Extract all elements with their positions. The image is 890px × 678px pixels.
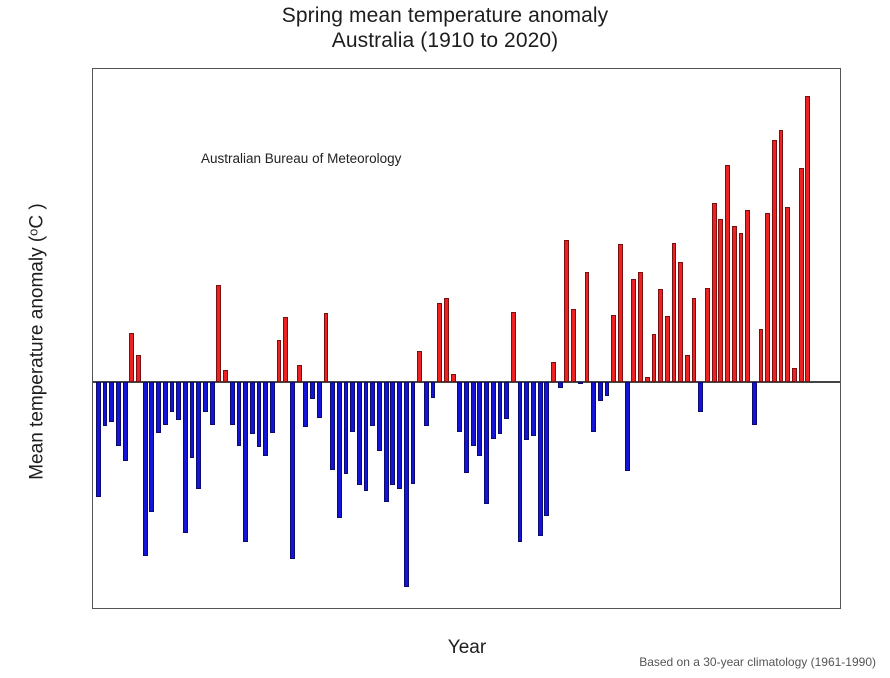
bar-1925 [196, 382, 201, 489]
bar-1976 [538, 382, 543, 536]
bar-1916 [136, 355, 141, 382]
bar-1989 [625, 382, 630, 471]
bar-1982 [578, 382, 583, 384]
chart-title-block: Spring mean temperature anomaly Australi… [0, 4, 890, 54]
bar-1944 [324, 313, 329, 382]
bar-1927 [210, 382, 215, 424]
bar-1915 [129, 333, 134, 382]
bar-1990 [631, 279, 636, 382]
bar-1912 [109, 382, 114, 422]
bar-2013 [785, 207, 790, 382]
bar-1971 [504, 382, 509, 419]
bar-1949 [357, 382, 362, 485]
bar-1957 [411, 382, 416, 484]
bar-1958 [417, 351, 422, 382]
bar-1935 [263, 382, 268, 455]
plot-area: Australian Bureau of Meteorology [92, 68, 841, 609]
bar-1964 [457, 382, 462, 431]
bar-1956 [404, 382, 409, 587]
bar-1991 [638, 272, 643, 382]
chart-title: Spring mean temperature anomaly [0, 4, 890, 29]
bar-1932 [243, 382, 248, 541]
chart-subtitle: Australia (1910 to 2020) [0, 29, 890, 54]
bar-2016 [805, 96, 810, 382]
bar-1947 [344, 382, 349, 474]
y-axis-label: Mean temperature anomaly (oC ) [26, 107, 49, 577]
bar-1965 [464, 382, 469, 472]
bar-1981 [571, 309, 576, 382]
bar-1950 [364, 382, 369, 491]
bar-1937 [277, 340, 282, 382]
bar-2009 [759, 329, 764, 383]
bar-1918 [149, 382, 154, 512]
y-axis-label-tail: C ) [27, 203, 48, 228]
bar-2006 [739, 233, 744, 383]
bar-1979 [558, 382, 563, 388]
bar-1963 [451, 374, 456, 382]
bar-2012 [779, 130, 784, 383]
bar-1945 [330, 382, 335, 469]
bar-1919 [156, 382, 161, 433]
bar-1974 [524, 382, 529, 440]
bar-1994 [658, 289, 663, 382]
bar-1977 [544, 382, 549, 516]
bar-1975 [531, 382, 536, 436]
bar-1959 [424, 382, 429, 426]
bar-2015 [799, 168, 804, 382]
bar-1931 [237, 382, 242, 445]
bar-2014 [792, 368, 797, 382]
bar-1923 [183, 382, 188, 533]
climatology-footnote: Based on a 30-year climatology (1961-199… [639, 655, 876, 669]
bar-1993 [652, 334, 657, 382]
bar-1930 [230, 382, 235, 424]
bar-1948 [350, 382, 355, 431]
chart-figure: Spring mean temperature anomaly Australi… [0, 0, 890, 678]
bar-2007 [745, 210, 750, 382]
bar-1998 [685, 355, 690, 382]
bar-1969 [491, 382, 496, 438]
bar-1978 [551, 362, 556, 382]
bar-1987 [611, 315, 616, 383]
bar-1917 [143, 382, 148, 556]
bar-1920 [163, 382, 168, 424]
bar-2000 [698, 382, 703, 412]
bar-1933 [250, 382, 255, 434]
bar-1984 [591, 382, 596, 431]
bar-1926 [203, 382, 208, 412]
bar-2001 [705, 288, 710, 383]
bar-1921 [170, 382, 175, 412]
bar-1939 [290, 382, 295, 558]
bar-1914 [123, 382, 128, 461]
bar-1997 [678, 262, 683, 382]
bar-1954 [390, 382, 395, 485]
bar-1953 [384, 382, 389, 502]
bar-1967 [477, 382, 482, 455]
bar-1941 [303, 382, 308, 427]
bar-2002 [712, 203, 717, 382]
bar-2005 [732, 226, 737, 383]
degree-symbol: o [26, 229, 41, 236]
bar-1929 [223, 370, 228, 383]
bar-1940 [297, 365, 302, 382]
bar-1972 [511, 312, 516, 383]
y-axis-label-text: Mean temperature anomaly ( [27, 236, 48, 480]
bar-1936 [270, 382, 275, 433]
bar-1938 [283, 317, 288, 382]
bar-1910 [96, 382, 101, 496]
bar-1999 [692, 298, 697, 383]
bar-1992 [645, 377, 650, 383]
bar-series [93, 69, 840, 608]
bar-1973 [518, 382, 523, 541]
bar-2010 [765, 213, 770, 382]
bar-2008 [752, 382, 757, 424]
bar-1946 [337, 382, 342, 517]
bar-1996 [672, 243, 677, 383]
bar-1966 [471, 382, 476, 445]
bar-1924 [190, 382, 195, 458]
bar-2003 [718, 219, 723, 383]
bar-1995 [665, 316, 670, 382]
bar-1943 [317, 382, 322, 417]
bar-2004 [725, 165, 730, 382]
bar-1960 [431, 382, 436, 398]
bar-1988 [618, 244, 623, 382]
bar-1911 [103, 382, 108, 426]
bar-1955 [397, 382, 402, 489]
bar-1986 [605, 382, 610, 396]
bar-2011 [772, 140, 777, 383]
bar-1951 [370, 382, 375, 426]
bar-1928 [216, 285, 221, 382]
bar-1942 [310, 382, 315, 399]
bar-1922 [176, 382, 181, 420]
bar-1970 [498, 382, 503, 434]
bar-1980 [564, 240, 569, 383]
bar-1961 [437, 303, 442, 382]
bar-1968 [484, 382, 489, 503]
bar-1913 [116, 382, 121, 445]
bar-1985 [598, 382, 603, 400]
bar-1952 [377, 382, 382, 451]
bar-1983 [585, 272, 590, 382]
bar-1934 [257, 382, 262, 447]
source-attribution: Australian Bureau of Meteorology [201, 151, 401, 166]
bar-1962 [444, 298, 449, 383]
